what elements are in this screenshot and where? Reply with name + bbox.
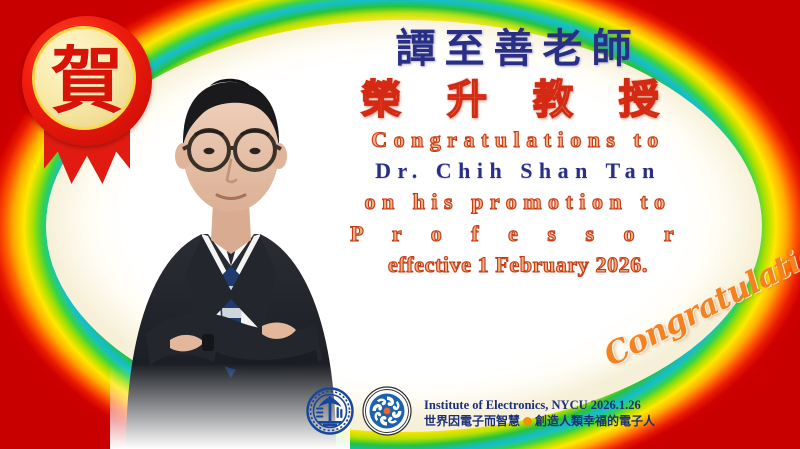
footer: Institute of Electronics, NYCU 2026.1.26… [306, 386, 655, 441]
chinese-promotion-heading: 榮 升 教 授 [318, 76, 718, 124]
institute-of-electronics-logo [362, 386, 412, 441]
footer-text-block: Institute of Electronics, NYCU 2026.1.26… [424, 398, 655, 429]
orange-dot-icon [523, 417, 532, 426]
message-block: 譚至善老師 榮 升 教 授 Congratulations to Dr. Chi… [318, 26, 718, 280]
motto-right-text: 創造人類幸福的電子人 [535, 414, 655, 430]
english-line-4: P r o f e s s o r [318, 218, 718, 249]
motto-left-text: 世界因電子而智慧 [424, 414, 520, 430]
english-line-5: effective 1 February 2026. [318, 249, 718, 280]
footer-motto-line: 世界因電子而智慧 創造人類幸福的電子人 [424, 414, 655, 430]
english-line-1: Congratulations to [318, 124, 718, 155]
chinese-name-heading: 譚至善老師 [318, 26, 718, 72]
nycu-university-logo [306, 387, 354, 440]
english-line-3: on his promotion to [318, 186, 718, 217]
congratulations-poster: 賀 [0, 0, 800, 449]
footer-institute-line: Institute of Electronics, NYCU 2026.1.26 [424, 398, 655, 414]
english-line-2: Dr. Chih Shan Tan [318, 155, 718, 186]
